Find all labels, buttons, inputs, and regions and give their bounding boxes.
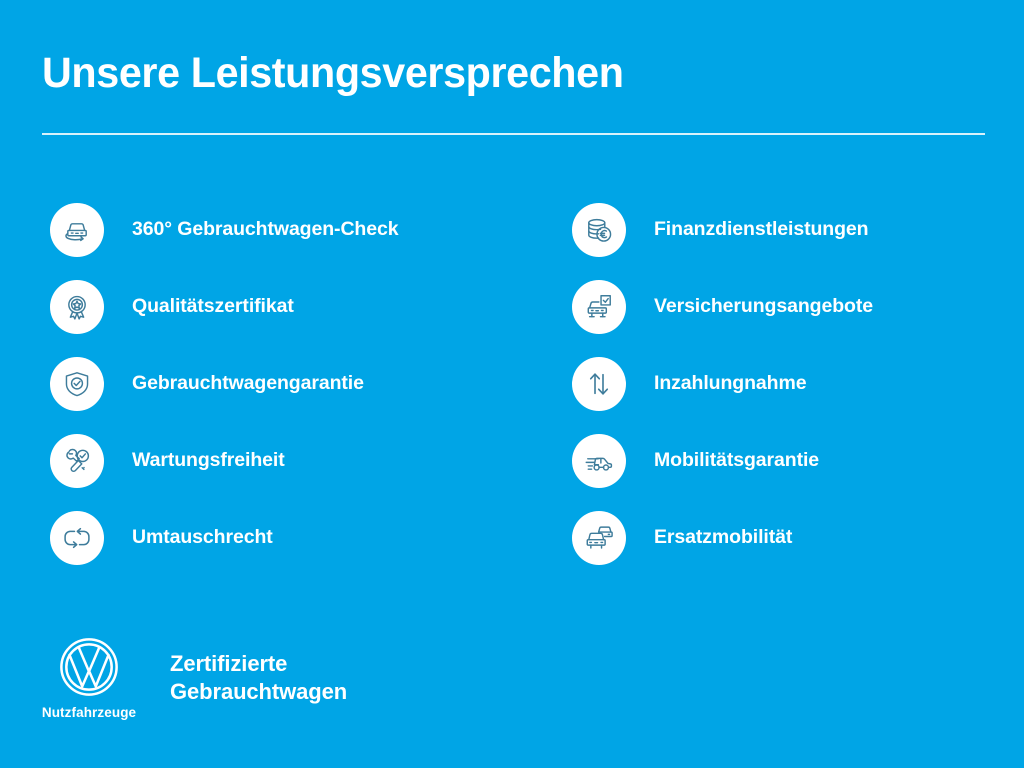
coins-euro-icon bbox=[572, 203, 626, 257]
list-item[interactable]: Umtauschrecht bbox=[50, 511, 520, 565]
brand-mark: Nutzfahrzeuge bbox=[36, 636, 142, 720]
brand-lockup: Nutzfahrzeuge Zertifizierte Gebrauchtwag… bbox=[36, 636, 347, 720]
vw-logo bbox=[58, 636, 120, 698]
list-item-label: 360° Gebrauchtwagen-Check bbox=[132, 218, 398, 241]
list-item-label: Umtauschrecht bbox=[132, 526, 273, 549]
promises-column-right: Finanzdienstleistungen bbox=[572, 203, 992, 588]
list-item[interactable]: Mobilitätsgarantie bbox=[572, 434, 992, 488]
two-cars-icon bbox=[572, 511, 626, 565]
list-item[interactable]: Ersatzmobilität bbox=[572, 511, 992, 565]
promises-grid: 360° Gebrauchtwagen-Check Qualitätszerti… bbox=[0, 203, 1024, 588]
list-item-label: Ersatzmobilität bbox=[654, 526, 792, 549]
list-item[interactable]: Inzahlungnahme bbox=[572, 357, 992, 411]
list-item-label: Finanzdienstleistungen bbox=[654, 218, 868, 241]
slide-canvas: Unsere Leistungsversprechen 3 bbox=[0, 0, 1024, 768]
brand-claim-line-1: Zertifizierte bbox=[170, 650, 347, 678]
title-divider bbox=[42, 133, 985, 135]
brand-claim-line-2: Gebrauchtwagen bbox=[170, 678, 347, 706]
list-item[interactable]: Gebrauchtwagengarantie bbox=[50, 357, 520, 411]
list-item[interactable]: Wartungsfreiheit bbox=[50, 434, 520, 488]
list-item[interactable]: Versicherungsangebote bbox=[572, 280, 992, 334]
brand-subtitle: Nutzfahrzeuge bbox=[42, 705, 136, 720]
list-item[interactable]: Qualitätszertifikat bbox=[50, 280, 520, 334]
list-item[interactable]: 360° Gebrauchtwagen-Check bbox=[50, 203, 520, 257]
list-item-label: Gebrauchtwagengarantie bbox=[132, 372, 364, 395]
list-item-label: Wartungsfreiheit bbox=[132, 449, 285, 472]
list-item-label: Mobilitätsgarantie bbox=[654, 449, 819, 472]
up-down-arrows-icon bbox=[572, 357, 626, 411]
list-item-label: Inzahlungnahme bbox=[654, 372, 806, 395]
promises-column-left: 360° Gebrauchtwagen-Check Qualitätszerti… bbox=[50, 203, 520, 588]
wrench-check-oilcan-icon bbox=[50, 434, 104, 488]
list-item-label: Qualitätszertifikat bbox=[132, 295, 294, 318]
page-title: Unsere Leistungsversprechen bbox=[42, 50, 948, 97]
shield-check-icon bbox=[50, 357, 104, 411]
brand-claim: Zertifizierte Gebrauchtwagen bbox=[170, 650, 347, 706]
car-360-check-icon bbox=[50, 203, 104, 257]
car-document-check-icon bbox=[572, 280, 626, 334]
exchange-arrows-icon bbox=[50, 511, 104, 565]
slide-header: Unsere Leistungsversprechen bbox=[42, 50, 986, 97]
list-item-label: Versicherungsangebote bbox=[654, 295, 873, 318]
car-motion-lines-icon bbox=[572, 434, 626, 488]
award-rosette-icon bbox=[50, 280, 104, 334]
list-item[interactable]: Finanzdienstleistungen bbox=[572, 203, 992, 257]
